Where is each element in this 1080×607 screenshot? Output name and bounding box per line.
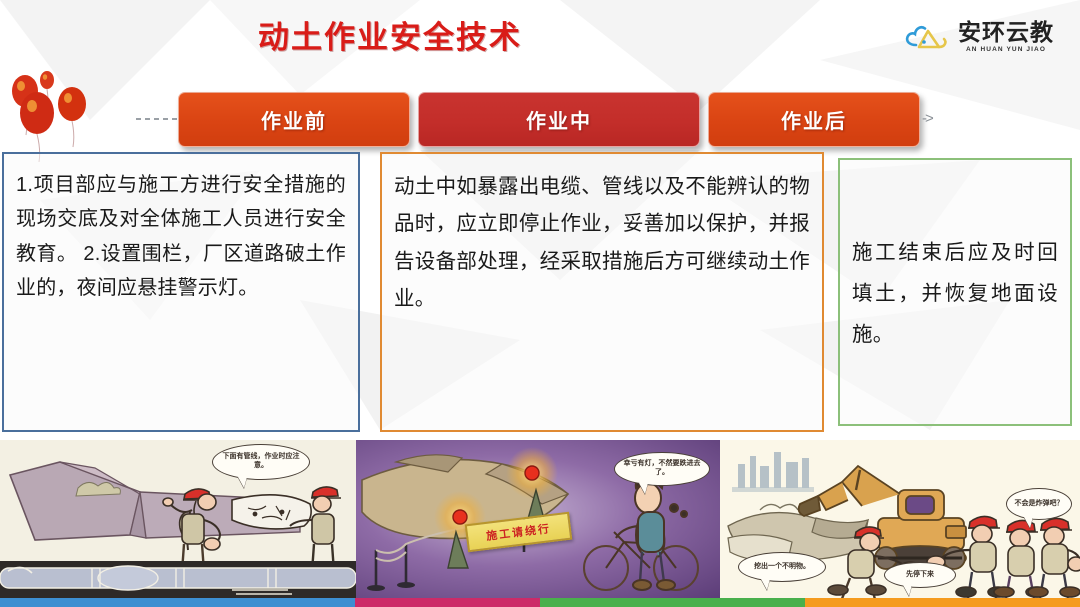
content-box-before: 1.项目部应与施工方进行安全措施的现场交底及对全体施工人员进行安全教育。 2.设… [2, 152, 360, 432]
tab-after-work[interactable]: 作业后 [708, 92, 920, 147]
leading-dashed-connector [136, 118, 178, 120]
page-title: 动土作业安全技术 [0, 12, 780, 57]
logo-name-cn: 安环云教 [958, 21, 1054, 44]
color-segment-green [540, 598, 805, 607]
slide-header: 动土作业安全技术 安环云教 AN HUAN YUN JIAO [0, 0, 1080, 88]
logo-name-en: AN HUAN YUN JIAO [966, 47, 1046, 54]
cloud-mountain-icon [903, 18, 949, 56]
speech-bubble-stop-first: 先停下来 [884, 562, 956, 588]
tab-during-work[interactable]: 作业中 [418, 92, 700, 147]
speech-bubble-unknown-object: 挖出一个不明物。 [738, 552, 826, 582]
phase-tab-bar: 作业前 作业中 作业后 -> [0, 92, 1080, 150]
content-text-after: 施工结束后应及时回填土，并恢复地面设施。 [852, 232, 1058, 355]
color-segment-magenta [355, 598, 540, 607]
slide-root: 动土作业安全技术 安环云教 AN HUAN YUN JIAO [0, 0, 1080, 607]
speech-bubble-lucky-light: 幸亏有灯，不然要跌进去了。 [614, 452, 710, 486]
color-segment-orange [805, 598, 1080, 607]
bottom-color-bar [0, 598, 1080, 607]
brand-logo: 安环云教 AN HUAN YUN JIAO [903, 18, 1054, 56]
tab-before-work[interactable]: 作业前 [178, 92, 410, 147]
speech-bubble-is-it-a-bomb: 不会是炸弹吧？ [1006, 488, 1072, 520]
content-box-during: 动土中如暴露出电缆、管线以及不能辨认的物品时，应立即停止作业，妥善加以保护，并报… [380, 152, 824, 432]
trailing-arrow-icon: -> [922, 110, 932, 127]
content-text-during: 动土中如暴露出电缆、管线以及不能辨认的物品时，应立即停止作业，妥善加以保护，并报… [394, 168, 810, 317]
content-text-before: 1.项目部应与施工方进行安全措施的现场交底及对全体施工人员进行安全教育。 2.设… [16, 168, 346, 306]
speech-bubble-pipeline-warning: 下面有管线，作业时应注意。 [212, 444, 310, 480]
content-box-after: 施工结束后应及时回填土，并恢复地面设施。 [838, 158, 1072, 426]
color-segment-blue [0, 598, 355, 607]
